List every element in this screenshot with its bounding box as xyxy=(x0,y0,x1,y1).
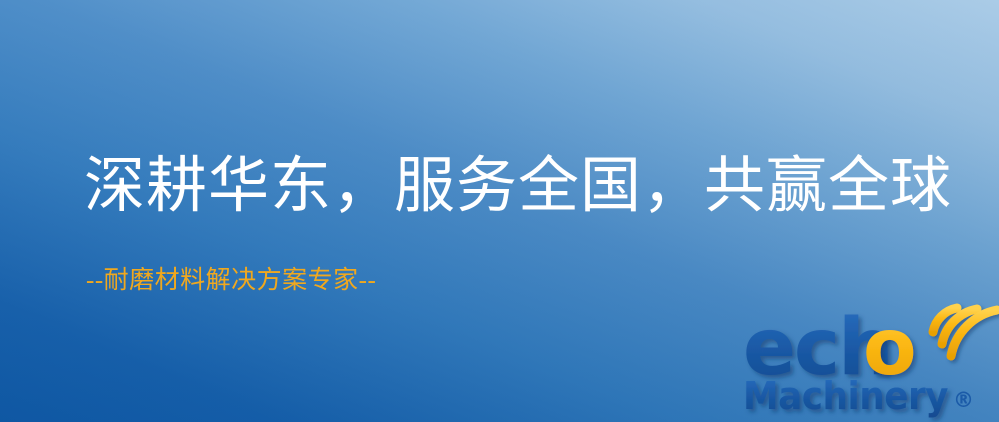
logo-brand-secondary: Machinery xyxy=(743,374,949,418)
page-title: 深耕华东，服务全国，共赢全球 xyxy=(84,152,952,222)
registered-trademark-icon: ® xyxy=(953,388,974,412)
hero-banner: 深耕华东，服务全国，共赢全球 --耐磨材料解决方案专家-- xyxy=(0,0,999,422)
echo-wave-icon xyxy=(933,308,997,356)
page-subtitle: --耐磨材料解决方案专家-- xyxy=(86,266,376,296)
company-logo: ech o Machinery ® xyxy=(737,292,999,422)
